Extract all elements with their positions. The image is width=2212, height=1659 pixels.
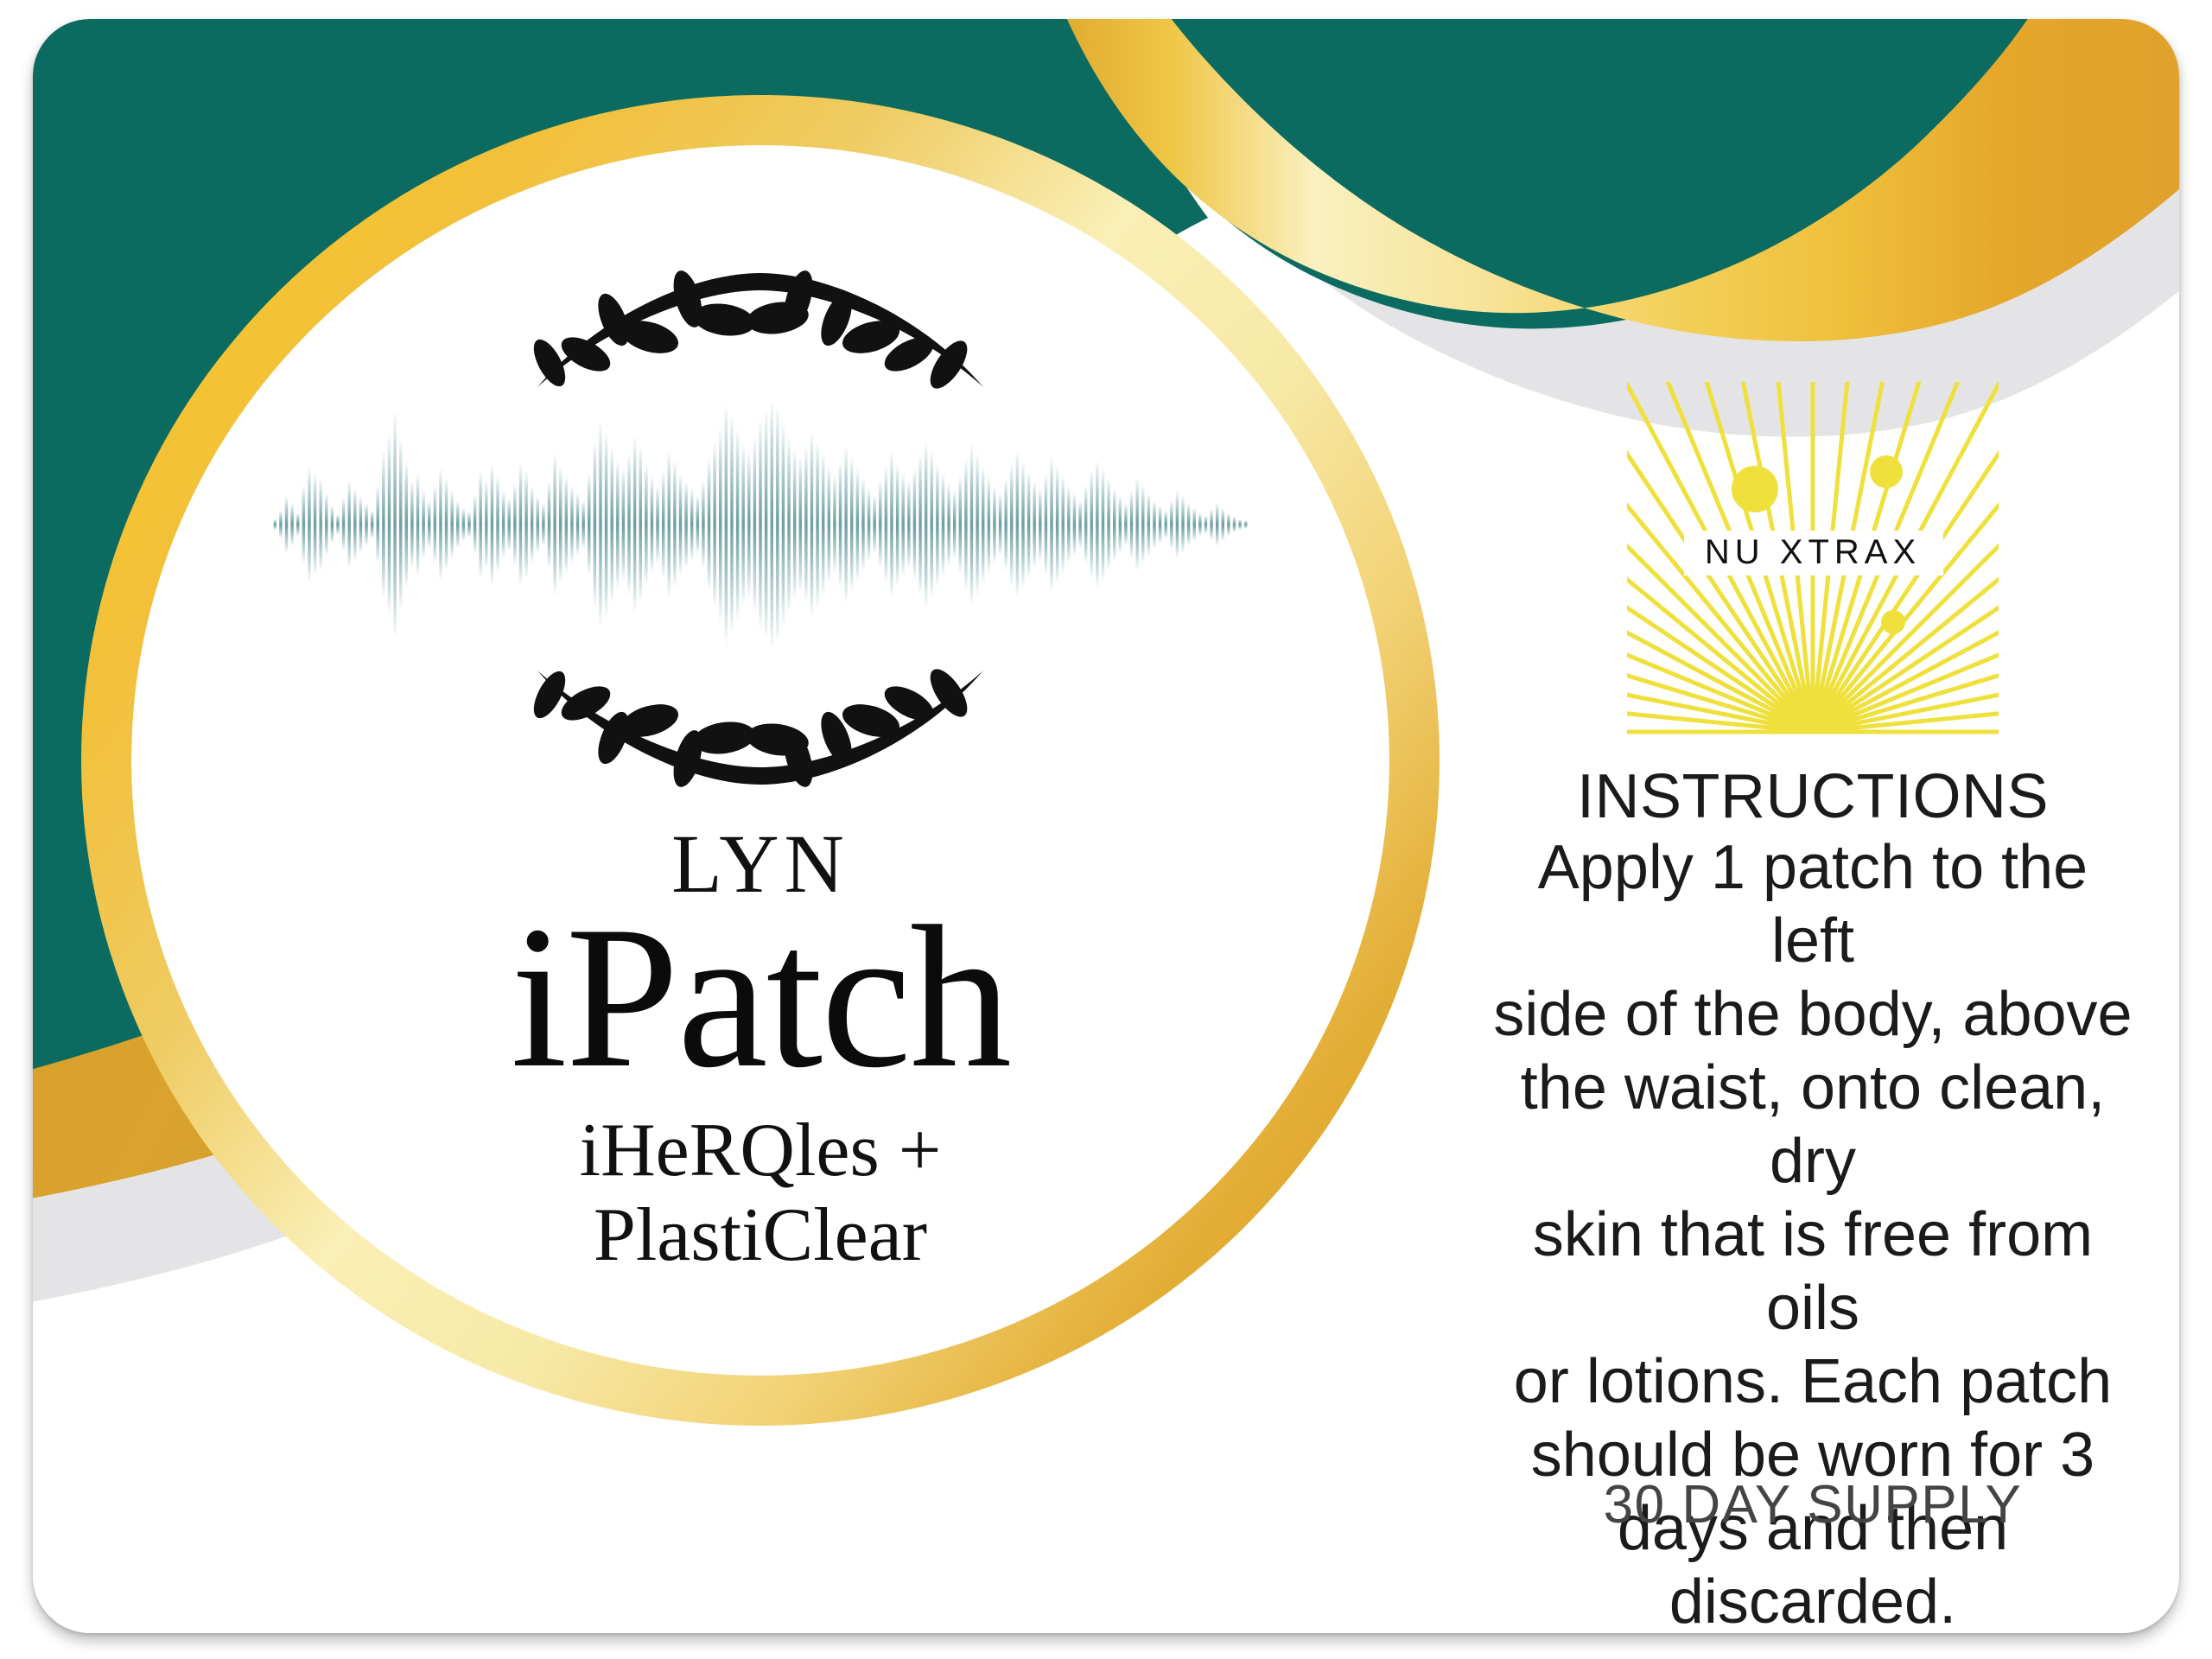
waveform-bar [1010,463,1013,586]
waveform-bar [1159,505,1161,543]
waveform-bar [1147,493,1150,556]
waveform-bar [1187,503,1190,546]
waveform-bar [296,512,299,536]
waveform-bar [331,505,334,543]
laurel-branch-bottom-icon [518,658,1002,800]
waveform-bar [736,429,739,621]
waveform-bar [308,466,310,583]
waveform-bar [1124,503,1127,546]
waveform-bar [771,398,773,651]
waveform-bar [988,475,990,573]
waveform-bar [377,486,379,563]
waveform-bar [285,495,288,553]
waveform-bar [828,466,830,583]
waveform-bar [662,471,664,579]
product-subtitle: iHeRQles + PlastiClear [580,1109,942,1279]
waveform-bar [279,511,282,539]
waveform-bar [844,446,847,604]
waveform-bar [450,491,453,559]
waveform-bar [690,488,693,562]
label-card: LYN iPatch iHeRQles + PlastiClear NU XTR… [33,19,2179,1633]
waveform-bar [319,478,321,571]
waveform-bar [896,463,899,586]
waveform-bar [491,463,493,586]
waveform-bar [765,409,767,641]
waveform-bar [885,466,887,583]
waveform-bar [982,466,984,583]
waveform-bar [822,453,824,595]
waveform-bar [1107,478,1109,571]
waveform-bar [1096,461,1098,588]
waveform-bar [1227,512,1230,536]
waveform-bar [639,446,642,604]
waveform-bar [1062,475,1065,573]
product-name: iPatch [511,900,1010,1096]
product-subtitle-line-2: PlastiClear [580,1193,942,1279]
waveform-bar [1045,473,1047,575]
waveform-bar [976,453,978,595]
waveform-bar [684,480,687,569]
waveform-bar [708,458,710,591]
waveform-bar [959,475,962,573]
waveform-bar [302,486,305,563]
waveform-bar [513,483,516,566]
waveform-bar [502,491,505,559]
waveform-bar [548,480,550,569]
waveform-bar [399,438,402,611]
waveform-bar [314,473,316,575]
waveform-bar [474,495,476,553]
waveform-bar [931,450,933,598]
waveform-bar [353,488,356,562]
sunburst-dot-medium [1870,455,1903,488]
waveform-bar [1181,495,1184,553]
waveform-bar [918,453,921,595]
waveform-bar [776,406,779,644]
waveform-bar [1119,495,1122,553]
waveform-bar [633,435,636,613]
waveform-bar [702,480,704,569]
waveform-bar [953,491,956,559]
waveform-bar [839,461,842,588]
nu-xtrax-wordmark: NU XTRAX [1705,533,1921,571]
waveform-bar [668,450,671,598]
sunburst-dot-large [1732,466,1778,512]
waveform-bar [456,500,459,549]
instructions-line-4: skin that is free from oils [1493,1198,2133,1345]
waveform-bar [1130,491,1133,559]
waveform-bar [1056,466,1058,583]
waveform-bar [542,503,544,546]
waveform-bar [999,493,1001,556]
waveform-bar [553,453,556,595]
waveform-bar [1073,493,1076,556]
medallion-content: LYN iPatch iHeRQles + PlastiClear [207,192,1313,1358]
waveform-bar [1033,480,1035,569]
waveform-bar [485,480,487,569]
waveform-bar [1216,503,1218,546]
waveform-bar [1198,512,1201,536]
waveform-bar [388,433,391,615]
waveform-bar [274,519,276,531]
waveform-bar [725,404,728,645]
waveform-bar [531,486,533,563]
waveform-bar [925,441,927,608]
waveform-bar [656,486,658,563]
waveform-bar [325,493,327,556]
waveform-bar [947,483,950,566]
waveform-bar [479,471,481,579]
waveform-bar [582,500,584,549]
waveform-bar [1016,450,1019,598]
instructions-line-3: the waist, onto clean, dry [1493,1052,2133,1198]
waveform-bar [1067,486,1070,563]
waveform-bar [1021,461,1024,588]
nu-xtrax-sunburst-logo-icon: NU XTRAX [1627,382,1999,745]
waveform-bar [645,463,647,586]
waveform-bar [868,488,870,562]
waveform-bar [565,475,568,573]
waveform-bar [519,463,522,586]
waveform-bar [410,480,413,569]
waveform-bar [1164,511,1166,539]
waveform-bar [359,495,362,553]
waveform-bar [936,463,938,586]
waveform-bar [524,471,527,579]
waveform-bar [679,473,682,575]
waveform-bar [445,478,448,571]
waveform-bar [833,475,836,573]
waveform-bar [405,461,408,588]
waveform-bar [651,475,653,573]
waveform-bar [434,486,436,563]
waveform-bar [347,480,350,569]
waveform-bar [588,473,590,575]
waveform-bar [594,441,596,608]
waveform-bar [890,450,893,598]
waveform-bar [964,458,967,591]
waveform-bar [439,468,442,582]
waveform-bar [1004,478,1007,571]
instructions-line-5: or lotions. Each patch [1493,1345,2133,1419]
waveform-bar [799,455,802,594]
waveform-bar [1141,486,1144,563]
waveform-bar [673,461,676,588]
product-subtitle-line-1: iHeRQles + [580,1109,942,1194]
waveform-bar [907,480,910,569]
waveform-bar [759,418,761,631]
waveform-bar [605,430,607,618]
waveform-bar [810,430,813,618]
waveform-bar [290,503,293,546]
waveform-bar [576,493,579,556]
waveform-bar [942,473,944,575]
waveform-bar [993,486,995,563]
waveform-bar [382,450,385,598]
audio-waveform-icon [272,395,1249,654]
waveform-bar [787,435,790,613]
waveform-bar [1090,471,1093,579]
waveform-bar [616,461,619,588]
waveform-bar [1135,478,1138,571]
waveform-bar [873,495,875,553]
waveform-bar [496,475,499,573]
waveform-bar [1238,519,1241,531]
waveform-bar [570,486,573,563]
waveform-bar [599,421,601,628]
waveform-bar [861,478,864,571]
waveform-bar [730,413,733,635]
waveform-bar [1027,471,1030,579]
waveform-bar [1176,491,1179,559]
waveform-bar [422,491,424,559]
waveform-bar [428,500,430,549]
waveform-bar [782,421,785,628]
waveform-bar [804,446,807,604]
waveform-bar [467,512,470,537]
sunburst-dot-small [1881,610,1905,634]
waveform-bar [741,443,744,606]
waveform-bar [416,473,419,575]
waveform-bar [753,435,756,613]
waveform-bar [622,468,625,582]
waveform-bar [850,455,853,594]
waveform-bar [371,511,373,539]
waveform-bar [1244,520,1247,529]
waveform-bar [627,453,630,595]
waveform-bar [970,443,973,606]
waveform-bar [462,508,465,542]
waveform-bar [747,450,750,598]
waveform-bar [1078,500,1081,549]
waveform-bar [713,441,715,608]
waveform-bar [1170,500,1173,549]
waveform-bar [719,426,721,624]
instructions-line-2: side of the body, above [1493,978,2133,1052]
waveform-bar [1205,515,1207,533]
laurel-branch-top-icon [518,257,1002,400]
waveform-bar [1102,468,1104,582]
waveform-bar [1193,508,1196,542]
product-label-screenshot: LYN iPatch iHeRQles + PlastiClear NU XTR… [0,0,2212,1659]
waveform-bar [610,446,613,604]
waveform-bar [342,498,345,551]
waveform-bar [913,468,916,582]
right-info-panel: NU XTRAX INSTRUCTIONS Apply 1 patch to t… [1467,382,2158,1633]
waveform-bar [508,498,511,551]
waveform-bar [816,441,818,608]
waveform-bar [696,495,699,553]
waveform-bar [1222,508,1224,542]
waveform-bar [793,448,796,601]
supply-duration-note: 30 DAY SUPPLY [1467,1474,2158,1535]
waveform-bar [1153,500,1155,549]
waveform-bar [1039,488,1041,562]
waveform-bar [1050,455,1052,594]
waveform-bar [393,410,396,638]
waveform-bar [856,468,859,582]
waveform-bar [336,514,339,535]
waveform-bar [1233,517,1236,532]
instructions-line-1: Apply 1 patch to the left [1493,831,2133,978]
waveform-bar [901,473,904,575]
waveform-bar [537,495,539,553]
waveform-bar [1210,509,1212,540]
waveform-bar [1113,488,1116,562]
waveform-bar [879,480,881,569]
instructions-heading: INSTRUCTIONS [1577,764,2049,829]
waveform-bar [1084,486,1087,563]
waveform-bar [559,466,562,583]
waveform-bar [365,503,367,546]
